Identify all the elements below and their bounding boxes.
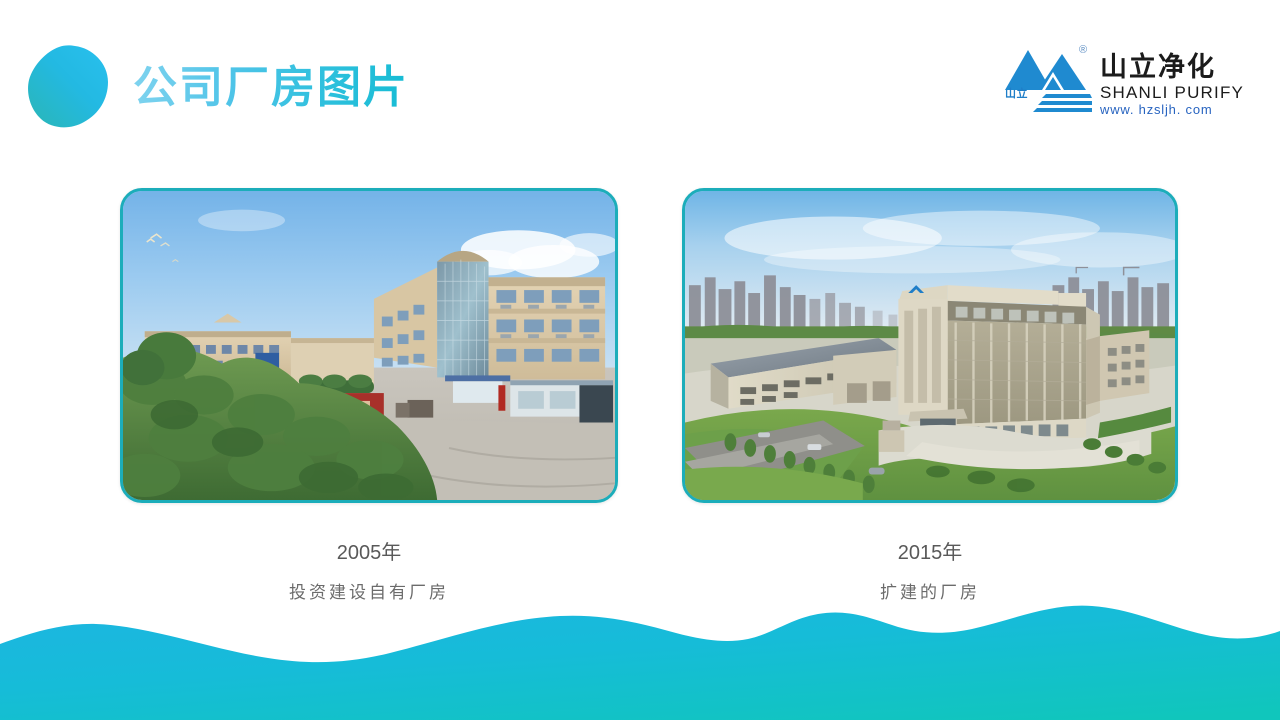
photo-card-2005: 2005年 投资建设自有厂房 <box>120 188 618 608</box>
photo-card-2015: 2015年 扩建的厂房 <box>682 188 1178 608</box>
logo-mark-label: 山立 <box>1005 88 1028 101</box>
photo-caption-desc-2005: 投资建设自有厂房 <box>120 581 618 605</box>
photo-caption-desc-2015: 扩建的厂房 <box>682 581 1178 605</box>
logo-company-name-cn: 山立净化 <box>1100 52 1216 82</box>
title-blob-decoration <box>26 44 110 130</box>
logo-company-name-en: SHANLI PURIFY <box>1100 83 1244 102</box>
photo-frame-2005[interactable] <box>120 188 618 503</box>
photo-caption-year-2005: 2005年 <box>120 540 618 566</box>
logo-website-url: www. hzsljh. com <box>1100 102 1213 117</box>
photo-caption-year-2015: 2015年 <box>682 540 1178 566</box>
bottom-wave-decoration <box>0 605 1280 720</box>
slide-canvas: 公司厂房图片 山立 ® 山立净化 SHANLI PURIFY www. hzsl… <box>0 0 1280 720</box>
factory-photo-2015 <box>685 191 1175 500</box>
registered-trademark-icon: ® <box>1079 45 1087 56</box>
company-logo: 山立 ® 山立净化 SHANLI PURIFY www. hzsljh. com <box>1004 40 1220 122</box>
factory-photo-2005 <box>123 191 615 500</box>
page-title: 公司厂房图片 <box>133 60 409 116</box>
photo-frame-2015[interactable] <box>682 188 1178 503</box>
